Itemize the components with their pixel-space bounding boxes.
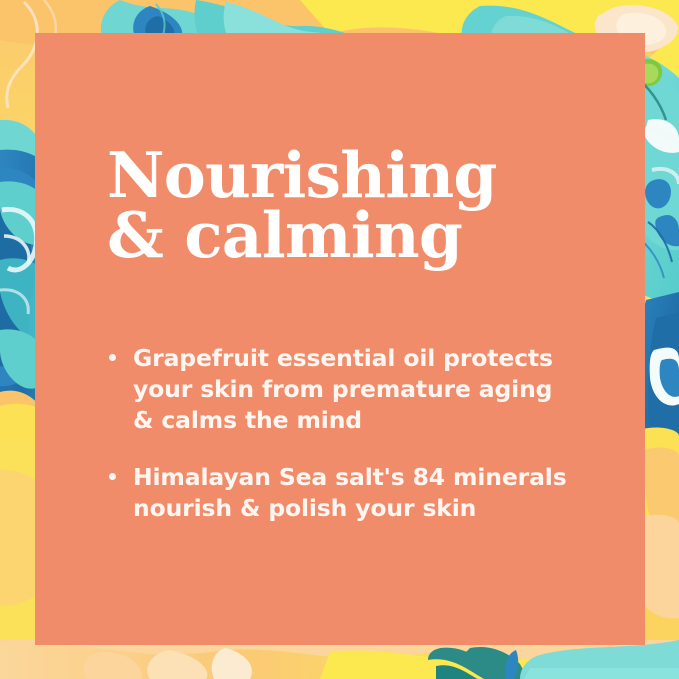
list-item: Grapefruit essential oil protects your s… bbox=[105, 343, 605, 436]
list-item-label: Himalayan Sea salt's 84 minerals nourish… bbox=[133, 462, 605, 524]
bullet-dot-icon bbox=[109, 473, 116, 480]
coral-content-panel: Nourishing & calming Grapefruit essentia… bbox=[35, 33, 645, 645]
benefits-list: Grapefruit essential oil protects your s… bbox=[105, 343, 605, 524]
list-item-label: Grapefruit essential oil protects your s… bbox=[133, 343, 605, 436]
page-title: Nourishing & calming bbox=[107, 145, 577, 266]
product-feature-card: Nourishing & calming Grapefruit essentia… bbox=[0, 0, 679, 679]
list-item: Himalayan Sea salt's 84 minerals nourish… bbox=[105, 462, 605, 524]
bullet-dot-icon bbox=[109, 354, 116, 361]
